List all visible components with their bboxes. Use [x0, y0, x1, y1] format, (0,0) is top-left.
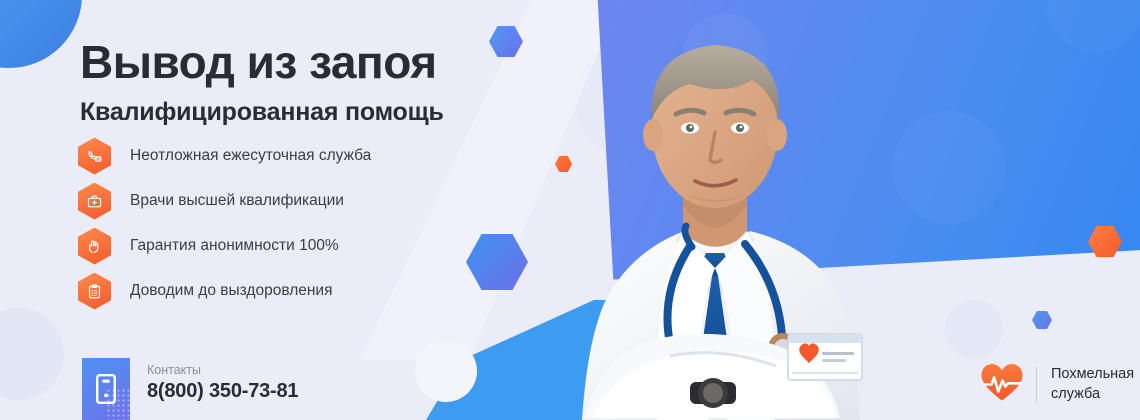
phone-24h-icon	[78, 138, 111, 175]
brand-logo[interactable]: Похмельная служба	[980, 362, 1134, 407]
feature-label: Врачи высшей квалификации	[130, 192, 344, 210]
page-subtitle: Квалифицированная помощь	[80, 98, 444, 127]
page-title: Вывод из запоя	[80, 38, 437, 86]
mobile-phone-icon	[82, 358, 130, 420]
feature-label: Неотложная ежесуточная служба	[130, 147, 371, 165]
feature-label: Гарантия анонимности 100%	[130, 237, 339, 255]
list-item: Гарантия анонимности 100%	[78, 231, 498, 261]
content-column: Вывод из запоя Квалифицированная помощь …	[0, 0, 560, 420]
doctor-photo	[540, 0, 940, 420]
list-item: Врачи высшей квалификации	[78, 186, 498, 216]
logo-divider	[1036, 367, 1037, 403]
contacts-label: Контакты	[147, 362, 298, 378]
feature-label: Доводим до выздоровления	[130, 282, 332, 300]
list-item: Неотложная ежесуточная служба	[78, 141, 498, 171]
contact-details: Контакты 8(800) 350-73-81	[147, 358, 298, 405]
decor-hexagon-blue-small-bottom	[1032, 311, 1052, 329]
heart-pulse-icon	[980, 362, 1024, 407]
contacts-phone[interactable]: 8(800) 350-73-81	[147, 378, 298, 405]
tile-dot-texture	[106, 388, 130, 420]
clipboard-check-icon	[78, 273, 111, 310]
list-item: Доводим до выздоровления	[78, 276, 498, 306]
logo-line-1: Похмельная	[1051, 365, 1134, 385]
medical-case-icon	[78, 183, 111, 220]
decor-circle-right	[945, 300, 1003, 358]
contacts-block[interactable]: Контакты 8(800) 350-73-81	[82, 358, 298, 420]
secret-hand-icon	[78, 228, 111, 265]
logo-text: Похмельная служба	[1051, 365, 1134, 404]
promo-banner: Вывод из запоя Квалифицированная помощь …	[0, 0, 1140, 420]
feature-list: Неотложная ежесуточная служба Врачи высш…	[78, 141, 498, 321]
logo-line-2: служба	[1051, 385, 1134, 405]
